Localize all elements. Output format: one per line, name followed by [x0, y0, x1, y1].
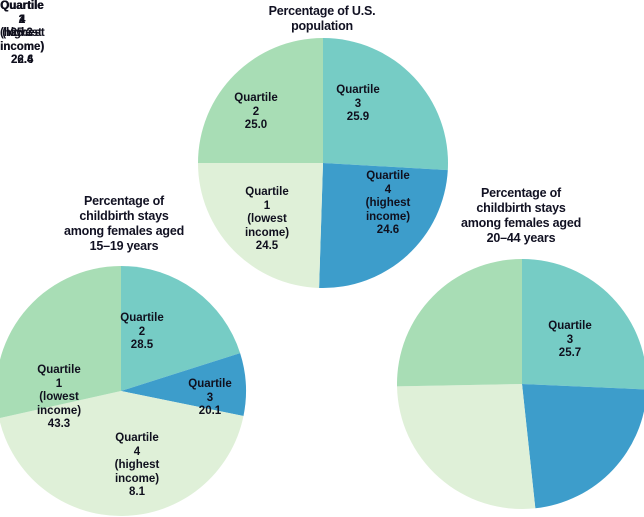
chart-adult-title: Percentage of childbirth stays among fem… — [418, 186, 624, 246]
pie-adult — [396, 258, 644, 510]
chart-teen-title: Percentage of childbirth stays among fem… — [26, 194, 222, 254]
pie-teen-slices — [0, 266, 246, 516]
pie-adult-label-quartile-1: Quartile 1 (lowest income) 26.4 — [0, 0, 44, 68]
pie-adult-label-quartile-2: Quartile 2 25.3 — [0, 0, 43, 41]
pie-adult-slice-quartile-2[interactable] — [397, 259, 522, 386]
pie-adult-slice-quartile-3[interactable] — [522, 259, 644, 389]
pie-chart-figure: Percentage of U.S. population Quartile 3… — [0, 0, 644, 514]
pie-adult-slices — [397, 259, 644, 509]
pie-population-slice-quartile-2[interactable] — [198, 38, 323, 163]
pie-population — [197, 37, 449, 289]
pie-adult-slice-quartile-4[interactable] — [522, 384, 644, 508]
pie-population-slices — [198, 38, 448, 288]
chart-population-title: Percentage of U.S. population — [197, 4, 447, 34]
pie-adult-slice-quartile-1[interactable] — [397, 384, 535, 509]
pie-adult-label-quartile-4: Quartile 4 (highest income) 22.6 — [0, 0, 45, 68]
pie-population-slice-quartile-3[interactable] — [323, 38, 448, 170]
pie-teen — [0, 265, 247, 517]
